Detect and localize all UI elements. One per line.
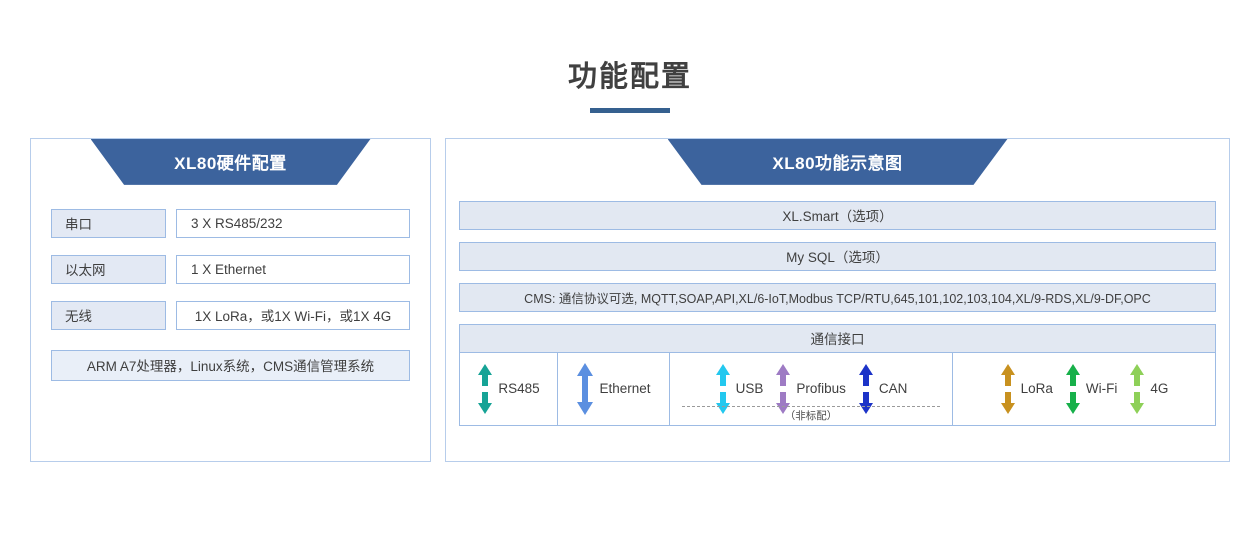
port-rs485: RS485 xyxy=(477,364,539,414)
hardware-row-key: 以太网 xyxy=(51,255,166,284)
interface-cell-optional: USB Profibus xyxy=(670,353,953,425)
interface-cell-wireless: LoRa Wi-Fi xyxy=(953,353,1215,425)
hardware-row-key: 串口 xyxy=(51,209,166,238)
port-label: LoRa xyxy=(1021,381,1053,396)
double-arrow-split-icon xyxy=(1065,364,1081,414)
port-label: CAN xyxy=(879,381,908,396)
hardware-row-value: 3 X RS485/232 xyxy=(176,209,410,238)
port-label: Ethernet xyxy=(599,381,650,396)
table-row: 串口 3 X RS485/232 xyxy=(51,209,410,238)
hardware-config-banner: XL80硬件配置 xyxy=(91,139,371,185)
non-standard-note: （非标配） xyxy=(682,406,940,423)
communication-interface-box: 通信接口 RS485 xyxy=(459,324,1216,426)
hardware-footer-note: ARM A7处理器，Linux系统，CMS通信管理系统 xyxy=(51,350,410,381)
table-row: 无线 1X LoRa，或1X Wi-Fi，或1X 4G xyxy=(51,301,410,330)
interface-cell-serial: RS485 xyxy=(460,353,558,425)
hardware-row-value: 1X LoRa，或1X Wi-Fi，或1X 4G xyxy=(176,301,410,330)
port-label: RS485 xyxy=(498,381,539,396)
stack-bar-cms-protocols: CMS: 通信协议可选, MQTT,SOAP,API,XL/6-IoT,Modb… xyxy=(459,283,1216,312)
dashed-divider xyxy=(682,406,940,407)
page-header: 功能配置 xyxy=(0,0,1260,113)
hardware-config-banner-title: XL80硬件配置 xyxy=(174,149,287,174)
port-wifi: Wi-Fi xyxy=(1065,364,1117,414)
hardware-row-value: 1 X Ethernet xyxy=(176,255,410,284)
hardware-config-panel: XL80硬件配置 串口 3 X RS485/232 以太网 1 X Ethern… xyxy=(30,138,431,462)
interface-cell-ethernet: Ethernet xyxy=(558,353,670,425)
panels-row: XL80硬件配置 串口 3 X RS485/232 以太网 1 X Ethern… xyxy=(0,113,1260,462)
double-arrow-split-icon xyxy=(477,364,493,414)
function-diagram-banner: XL80功能示意图 xyxy=(668,139,1008,185)
stack-bar-xlsmart: XL.Smart（选项） xyxy=(459,201,1216,230)
port-label: USB xyxy=(736,381,764,396)
communication-interface-heading: 通信接口 xyxy=(460,325,1215,353)
double-arrow-split-icon xyxy=(1000,364,1016,414)
non-standard-note-text: （非标配） xyxy=(682,408,940,423)
port-label: 4G xyxy=(1150,381,1168,396)
port-4g: 4G xyxy=(1129,364,1168,414)
hardware-row-key: 无线 xyxy=(51,301,166,330)
page-title: 功能配置 xyxy=(0,62,1260,94)
function-diagram-panel: XL80功能示意图 XL.Smart（选项） My SQL（选项） CMS: 通… xyxy=(445,138,1230,462)
stack-bar-mysql: My SQL（选项） xyxy=(459,242,1216,271)
table-row: 以太网 1 X Ethernet xyxy=(51,255,410,284)
communication-interface-cells: RS485 Ethernet xyxy=(460,353,1215,425)
port-label: Wi-Fi xyxy=(1086,381,1117,396)
port-ethernet: Ethernet xyxy=(576,363,650,415)
port-label: Profibus xyxy=(796,381,846,396)
double-arrow-icon xyxy=(576,363,594,415)
port-lora: LoRa xyxy=(1000,364,1053,414)
double-arrow-split-icon xyxy=(1129,364,1145,414)
function-diagram-banner-title: XL80功能示意图 xyxy=(772,149,902,174)
